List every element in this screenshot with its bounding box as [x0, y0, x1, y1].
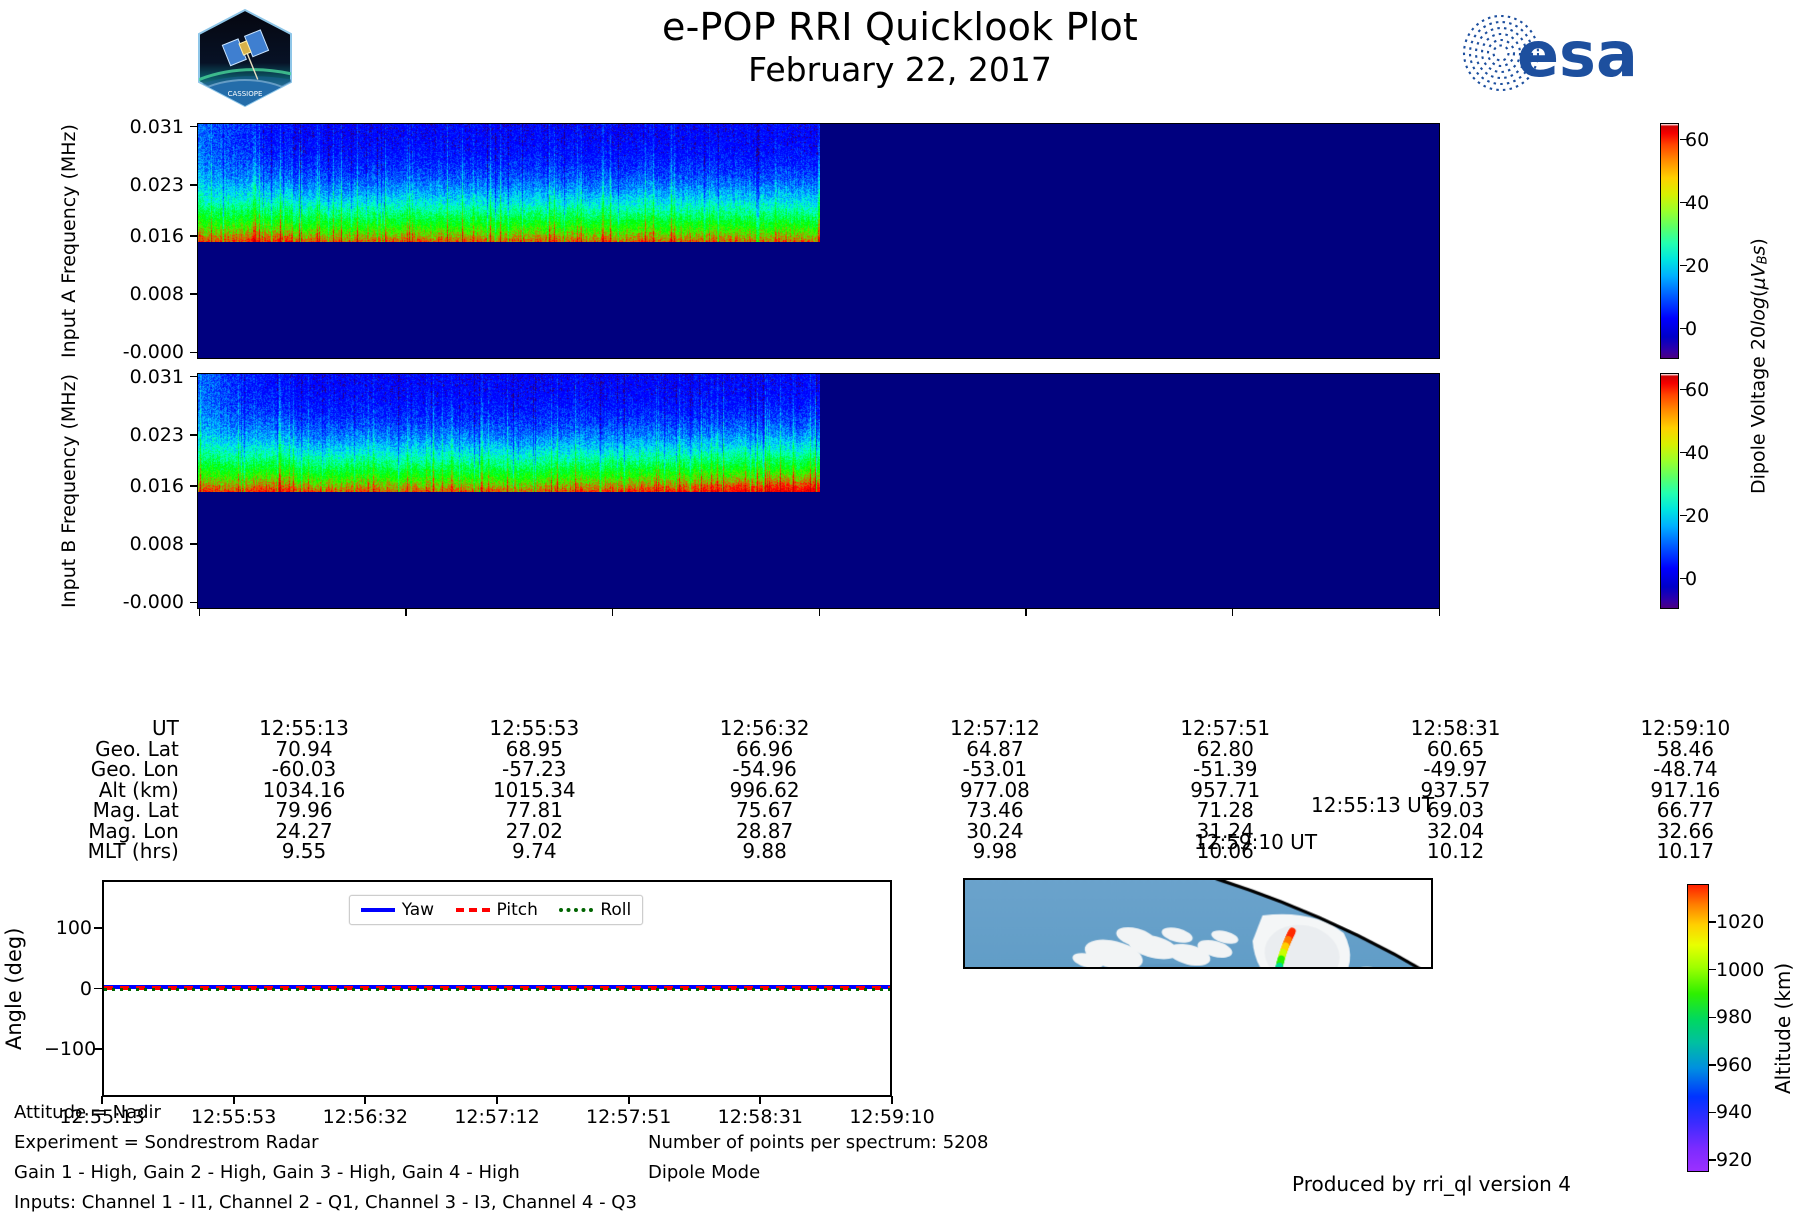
ephemeris-cell: 1034.16	[189, 780, 419, 801]
y-tick-mark	[190, 184, 197, 186]
colorbar-tick-label: 60	[1685, 129, 1709, 151]
ephemeris-row-label: Geo. Lon	[0, 759, 189, 780]
attitude-x-tick-label: 12:59:10	[849, 1106, 934, 1128]
attitude-x-tick-mark	[759, 1096, 761, 1104]
spectrogram-b-image	[198, 374, 820, 492]
ephemeris-cell: 10.12	[1340, 841, 1570, 862]
ephemeris-row: Mag. Lat79.9677.8175.6773.4671.2869.0366…	[0, 800, 1800, 821]
legend-label-roll: Roll	[600, 900, 631, 920]
page-title: e-POP RRI Quicklook Plot February 22, 20…	[0, 4, 1800, 90]
ephemeris-row: Alt (km)1034.161015.34996.62977.08957.71…	[0, 780, 1800, 801]
y-tick-mark	[190, 376, 197, 378]
ephemeris-row: Geo. Lon-60.03-57.23-54.96-53.01-51.39-4…	[0, 759, 1800, 780]
ephemeris-cell: 12:55:13	[189, 718, 419, 739]
spectrogram-b-yaxis: 0.0310.0230.0160.008-0.000	[62, 373, 192, 609]
legend-item-roll: Roll	[559, 900, 631, 920]
ephemeris-cell: 71.28	[1110, 800, 1340, 821]
ephemeris-cell: 66.77	[1571, 800, 1800, 821]
attitude-x-tick-label: 12:58:31	[718, 1106, 803, 1128]
attitude-y-tick-label: 0	[44, 978, 92, 1000]
attitude-y-tick-label: −100	[44, 1038, 92, 1060]
ephemeris-cell: 75.67	[649, 800, 879, 821]
y-tick-label: 0.023	[130, 174, 184, 196]
ground-track-map	[963, 878, 1433, 969]
altitude-tick-label: 920	[1716, 1149, 1752, 1171]
ephemeris-cell: 70.94	[189, 739, 419, 760]
ephemeris-cell: 62.80	[1110, 739, 1340, 760]
ephemeris-row: Mag. Lon24.2727.0228.8730.2431.2432.0432…	[0, 821, 1800, 842]
attitude-y-tick-label: 100	[44, 917, 92, 939]
ephemeris-row-label: Geo. Lat	[0, 739, 189, 760]
ephemeris-row-label: UT	[0, 718, 189, 739]
ephemeris-cell: 12:55:53	[419, 718, 649, 739]
x-tick-mark	[1025, 609, 1027, 616]
ephemeris-table: UT12:55:1312:55:5312:56:3212:57:1212:57:…	[0, 718, 1800, 862]
ephemeris-cell: 60.65	[1340, 739, 1570, 760]
attitude-x-tick-mark	[891, 1096, 893, 1104]
ephemeris-row: MLT (hrs)9.559.749.889.9810.0610.1210.17	[0, 841, 1800, 862]
attitude-legend: Yaw Pitch Roll	[349, 895, 643, 925]
attitude-y-tick-mark	[94, 927, 102, 929]
ephemeris-cell: 27.02	[419, 821, 649, 842]
altitude-tick-label: 960	[1716, 1054, 1752, 1076]
ephemeris-cell: 1015.34	[419, 780, 649, 801]
ephemeris-cell: 68.95	[419, 739, 649, 760]
map-end-time-label: 12:59:10 UT	[1194, 830, 1317, 854]
x-tick-mark	[405, 609, 407, 616]
ephemeris-cell: 9.74	[419, 841, 649, 862]
ephemeris-grid: UT12:55:1312:55:5312:56:3212:57:1212:57:…	[0, 718, 1800, 862]
spectrogram-a-panel	[197, 123, 1440, 359]
attitude-plot-ylabel: Angle (deg)	[2, 880, 26, 1097]
attitude-y-tick-mark	[94, 988, 102, 990]
ephemeris-row-label: Mag. Lat	[0, 800, 189, 821]
ephemeris-row-label: MLT (hrs)	[0, 841, 189, 862]
legend-label-pitch: Pitch	[497, 900, 538, 920]
y-tick-mark	[190, 126, 197, 128]
ephemeris-cell: 9.88	[649, 841, 879, 862]
ephemeris-cell: 977.08	[880, 780, 1110, 801]
ephemeris-cell: -49.97	[1340, 759, 1570, 780]
ephemeris-cell: -60.03	[189, 759, 419, 780]
altitude-tick-mark	[1709, 1017, 1716, 1019]
y-tick-mark	[190, 235, 197, 237]
colorbar-tick-label: 40	[1685, 192, 1709, 214]
title-date: February 22, 2017	[0, 50, 1800, 90]
ephemeris-cell: 12:57:51	[1110, 718, 1340, 739]
y-tick-mark	[190, 352, 197, 354]
legend-item-pitch: Pitch	[456, 900, 538, 920]
y-tick-label: 0.031	[130, 366, 184, 388]
colorbar-tick-label: 20	[1685, 255, 1709, 277]
spectrogram-a-image	[198, 124, 820, 242]
altitude-tick-mark	[1709, 1112, 1716, 1114]
y-tick-label: 0.031	[130, 116, 184, 138]
roll-line-icon	[559, 908, 593, 912]
ephemeris-row: UT12:55:1312:55:5312:56:3212:57:1212:57:…	[0, 718, 1800, 739]
map-start-time-label: 12:55:13 UT	[1311, 793, 1434, 817]
note-experiment: Experiment = Sondrestrom Radar	[14, 1128, 637, 1158]
ephemeris-cell: -54.96	[649, 759, 879, 780]
ephemeris-cell: 32.04	[1340, 821, 1570, 842]
x-tick-mark	[199, 609, 201, 616]
ephemeris-cell: 64.87	[880, 739, 1110, 760]
y-tick-label: 0.016	[130, 225, 184, 247]
note-mode: Dipole Mode	[648, 1158, 989, 1188]
cassiope-logo-caption: CASSIOPE	[228, 90, 263, 98]
y-tick-mark	[190, 485, 197, 487]
y-tick-label: -0.000	[123, 341, 184, 363]
ephemeris-row: Geo. Lat70.9468.9566.9664.8762.8060.6558…	[0, 739, 1800, 760]
x-tick-mark	[612, 609, 614, 616]
ephemeris-cell: 12:58:31	[1340, 718, 1570, 739]
ephemeris-cell: -53.01	[880, 759, 1110, 780]
colorbar-tick-mark	[1680, 265, 1687, 267]
y-tick-label: 0.016	[130, 475, 184, 497]
ephemeris-cell: 9.55	[189, 841, 419, 862]
ephemeris-cell: 66.96	[649, 739, 879, 760]
legend-label-yaw: Yaw	[402, 900, 434, 920]
ephemeris-cell: -51.39	[1110, 759, 1340, 780]
produced-by-label: Produced by rri_ql version 4	[1292, 1172, 1571, 1196]
ephemeris-cell: 58.46	[1571, 739, 1800, 760]
attitude-y-tick-mark	[94, 1048, 102, 1050]
colorbar-tick-label: 60	[1685, 379, 1709, 401]
spectrogram-b-panel	[197, 373, 1440, 609]
ephemeris-cell: 24.27	[189, 821, 419, 842]
ephemeris-cell: 79.96	[189, 800, 419, 821]
x-tick-mark	[1232, 609, 1234, 616]
ephemeris-cell: 77.81	[419, 800, 649, 821]
ephemeris-cell: 30.24	[880, 821, 1110, 842]
ephemeris-cell: -57.23	[419, 759, 649, 780]
attitude-traces	[104, 985, 890, 991]
colorbar-tick-mark	[1680, 389, 1687, 391]
colorbar-tick-mark	[1680, 515, 1687, 517]
altitude-colorbar	[1687, 884, 1709, 1172]
colorbar-tick-label: 20	[1685, 505, 1709, 527]
note-points-per-spectrum: Number of points per spectrum: 5208	[648, 1128, 989, 1158]
y-tick-label: 0.008	[130, 283, 184, 305]
y-tick-mark	[190, 543, 197, 545]
x-tick-mark	[1439, 609, 1441, 616]
colorbar-tick-label: 40	[1685, 442, 1709, 464]
dipole-voltage-colorbar-b: 6040200	[1660, 373, 1679, 609]
title-main: e-POP RRI Quicklook Plot	[0, 4, 1800, 50]
roll-line	[104, 988, 890, 991]
altitude-tick-mark	[1709, 1064, 1716, 1066]
ephemeris-cell: 12:57:12	[880, 718, 1110, 739]
altitude-tick-label: 940	[1716, 1101, 1752, 1123]
altitude-tick-label: 1000	[1716, 959, 1764, 981]
ephemeris-cell: 917.16	[1571, 780, 1800, 801]
altitude-tick-mark	[1709, 969, 1716, 971]
altitude-colorbar-label: Altitude (km)	[1768, 884, 1798, 1172]
altitude-tick-mark	[1709, 1159, 1716, 1161]
note-inputs: Inputs: Channel 1 - I1, Channel 2 - Q1, …	[14, 1188, 637, 1218]
pitch-line-icon	[456, 908, 490, 912]
ground-track-map-image	[965, 880, 1431, 969]
yaw-line-icon	[361, 908, 395, 912]
x-tick-mark	[819, 609, 821, 616]
footer-notes-right: Number of points per spectrum: 5208 Dipo…	[648, 1128, 989, 1188]
ephemeris-cell: 996.62	[649, 780, 879, 801]
ephemeris-cell: 73.46	[880, 800, 1110, 821]
ephemeris-cell: -48.74	[1571, 759, 1800, 780]
ephemeris-cell: 32.66	[1571, 821, 1800, 842]
y-tick-label: 0.008	[130, 533, 184, 555]
colorbar-tick-mark	[1680, 452, 1687, 454]
legend-item-yaw: Yaw	[361, 900, 434, 920]
y-tick-mark	[190, 602, 197, 604]
altitude-tick-label: 1020	[1716, 911, 1764, 933]
ephemeris-cell: 957.71	[1110, 780, 1340, 801]
dipole-voltage-colorbar-label: Dipole Voltage 20log(μVBs)	[1742, 123, 1776, 609]
y-tick-mark	[190, 293, 197, 295]
colorbar-tick-mark	[1680, 328, 1687, 330]
dipole-voltage-colorbar-a: 6040200	[1660, 123, 1679, 359]
spectrogram-a-yaxis: 0.0310.0230.0160.008-0.000	[62, 123, 192, 359]
ephemeris-cell: 12:56:32	[649, 718, 879, 739]
ephemeris-cell: 28.87	[649, 821, 879, 842]
colorbar-tick-mark	[1680, 139, 1687, 141]
altitude-tick-label: 980	[1716, 1006, 1752, 1028]
colorbar-tick-mark	[1680, 578, 1687, 580]
ephemeris-row-label: Mag. Lon	[0, 821, 189, 842]
y-tick-label: -0.000	[123, 591, 184, 613]
y-tick-label: 0.023	[130, 424, 184, 446]
ephemeris-cell: 9.98	[880, 841, 1110, 862]
note-attitude: Attitude = Nadir	[14, 1098, 637, 1128]
footer-notes-left: Attitude = Nadir Experiment = Sondrestro…	[14, 1098, 637, 1218]
ephemeris-cell: 12:59:10	[1571, 718, 1800, 739]
colorbar-tick-mark	[1680, 202, 1687, 204]
altitude-tick-mark	[1709, 921, 1716, 923]
note-gain: Gain 1 - High, Gain 2 - High, Gain 3 - H…	[14, 1158, 637, 1188]
y-tick-mark	[190, 434, 197, 436]
ephemeris-row-label: Alt (km)	[0, 780, 189, 801]
ephemeris-cell: 10.17	[1571, 841, 1800, 862]
